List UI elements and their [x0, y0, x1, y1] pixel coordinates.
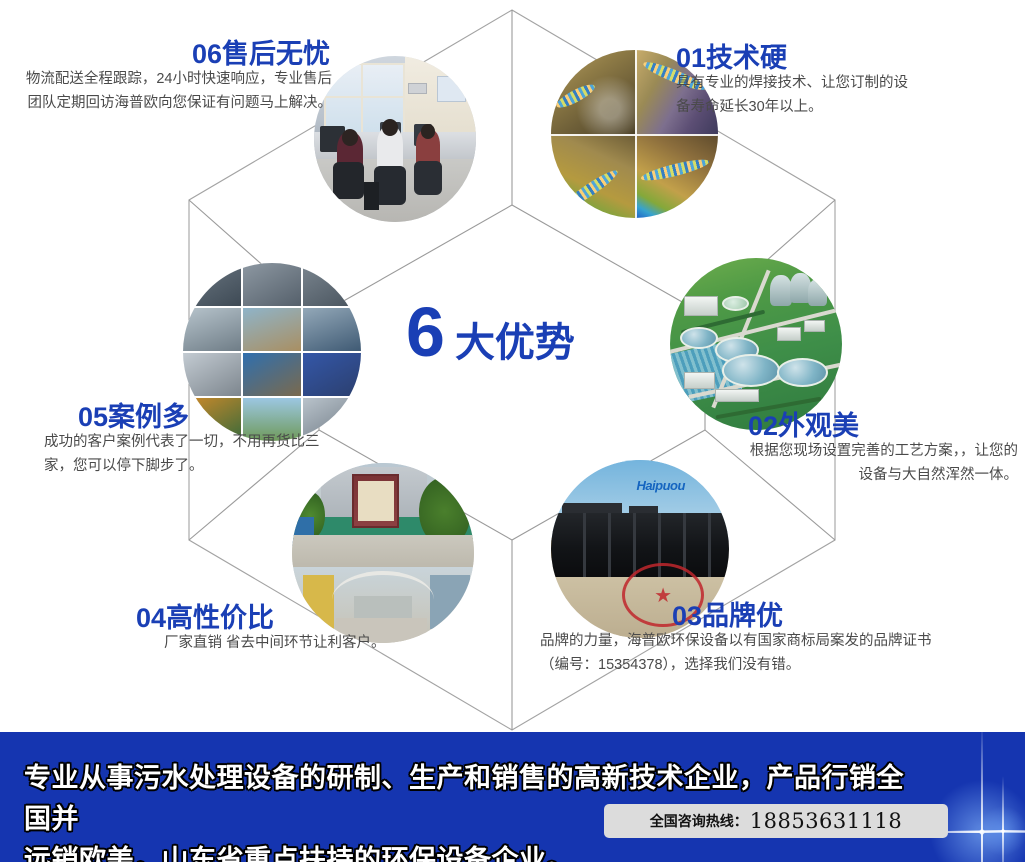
section-04-heading: 04高性价比	[136, 604, 456, 632]
photo-office-staff	[314, 56, 476, 222]
section-01-technology: 01技术硬 具有专业的焊接技术、让您订制的设备寿命延长30年以上。	[676, 44, 1006, 119]
section-05-body: 成功的客户案例代表了一切，不用再货比三家，您可以停下脚步了。	[44, 431, 340, 478]
center-title-number: 6	[406, 297, 445, 367]
infographic-root: Haipuou ★ 6 大优势	[0, 0, 1025, 862]
section-03-brand: 03品牌优 品牌的力量，海普欧环保设备以有国家商标局案发的品牌证书（编号：153…	[540, 602, 940, 677]
center-title-label: 大优势	[455, 323, 575, 363]
section-05-cases: 05案例多 成功的客户案例代表了一切，不用再货比三家，您可以停下脚步了。	[40, 403, 340, 478]
section-01-heading: 01技术硬	[676, 44, 1006, 72]
section-02-appearance: 02外观美 根据您现场设置完善的工艺方案，，让您的设备与大自然浑然一体。	[748, 412, 1018, 487]
banner-line-2: 远销欧美，山东省重点扶持的环保设备企业。	[24, 840, 904, 862]
photo-aerial-treatment-plant	[670, 258, 842, 430]
section-05-heading: 05案例多	[78, 403, 340, 431]
section-02-body: 根据您现场设置完善的工艺方案，，让您的设备与大自然浑然一体。	[748, 440, 1018, 487]
sparkle-star-small-icon	[968, 796, 1025, 862]
equipment-brand-logo: Haipuou	[636, 478, 685, 493]
hotline-box[interactable]: 全国咨询热线： 18853631118	[604, 804, 948, 838]
section-04-value: 04高性价比 厂家直销 省去中间环节让利客户。	[136, 604, 456, 656]
hotline-label: 全国咨询热线：	[650, 811, 748, 831]
center-title: 6 大优势	[406, 297, 636, 367]
section-01-body: 具有专业的焊接技术、让您订制的设备寿命延长30年以上。	[676, 72, 916, 119]
section-06-heading: 06售后无忧	[20, 40, 332, 68]
section-06-after-sales: 06售后无忧 物流配送全程跟踪，24小时快速响应，专业售后团队定期回访海普欧向您…	[20, 40, 332, 115]
section-03-body: 品牌的力量，海普欧环保设备以有国家商标局案发的品牌证书（编号：15354378）…	[540, 630, 940, 677]
hotline-number: 18853631118	[750, 809, 902, 833]
section-06-body: 物流配送全程跟踪，24小时快速响应，专业售后团队定期回访海普欧向您保证有问题马上…	[20, 68, 332, 115]
section-03-heading: 03品牌优	[672, 602, 940, 630]
bottom-banner: 专业从事污水处理设备的研制、生产和销售的高新技术企业，产品行销全国并 远销欧美，…	[0, 732, 1025, 862]
section-02-heading: 02外观美	[748, 412, 1018, 440]
section-04-body: 厂家直销 省去中间环节让利客户。	[164, 632, 456, 655]
